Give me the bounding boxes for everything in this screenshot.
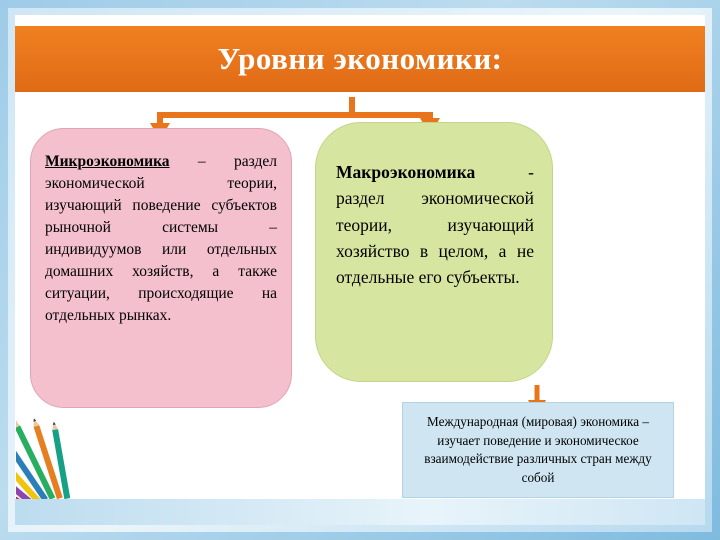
macroeconomics-box: Макроэкономика - раздел экономической те… xyxy=(315,122,553,382)
page-title: Уровни экономики: xyxy=(15,26,705,92)
slide-bottom-strip xyxy=(15,499,705,525)
slide: Уровни экономики: Микроэкономика – разде… xyxy=(0,0,720,540)
macroeconomics-text: Макроэкономика - раздел экономической те… xyxy=(336,159,534,290)
world-economy-text: Международная (мировая) экономика – изуч… xyxy=(413,413,663,488)
microeconomics-box: Микроэкономика – раздел экономической те… xyxy=(30,128,292,408)
slide-title-bar: Уровни экономики: xyxy=(15,26,705,92)
microeconomics-text: Микроэкономика – раздел экономической те… xyxy=(45,151,277,327)
macroeconomics-term: Макроэкономика xyxy=(336,162,475,182)
microeconomics-body: – раздел экономической теории, изучающий… xyxy=(45,153,277,324)
microeconomics-term: Микроэкономика xyxy=(45,153,170,170)
world-economy-box: Международная (мировая) экономика – изуч… xyxy=(402,402,674,498)
